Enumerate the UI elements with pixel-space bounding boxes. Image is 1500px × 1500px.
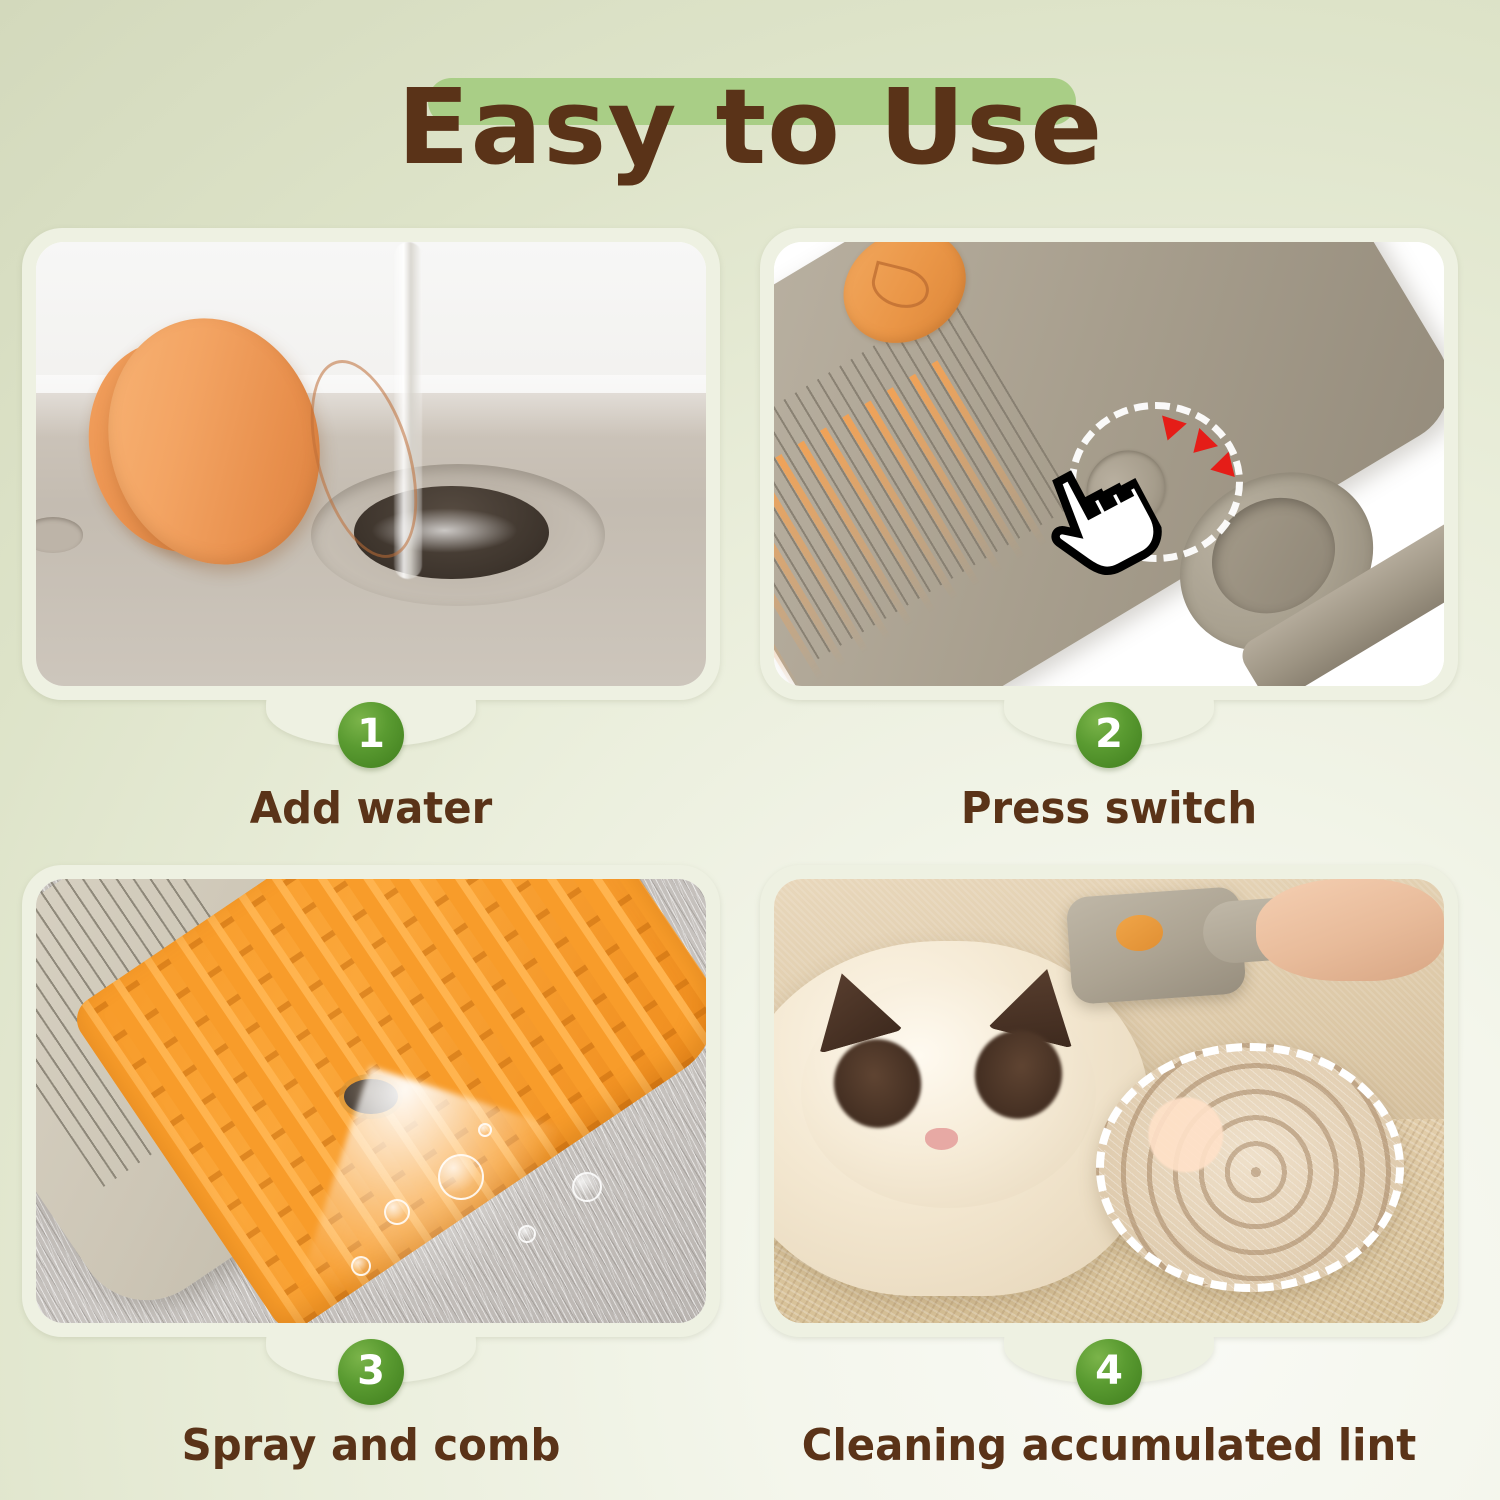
step-card-4[interactable]: 4 Cleaning accumulated lint [760, 865, 1458, 1337]
step-badge-2-number: 2 [1095, 714, 1123, 754]
step-badge-3: 3 [338, 1339, 404, 1405]
step-badge-2: 2 [1076, 702, 1142, 768]
step-caption-1: Add water [39, 783, 702, 834]
infographic-page: Easy to Use [0, 0, 1500, 1500]
step-caption-2: Press switch [777, 783, 1440, 834]
click-arrow-1 [1155, 415, 1187, 444]
step-badge-4-number: 4 [1095, 1351, 1123, 1391]
cat-nose [925, 1128, 959, 1150]
bubble [438, 1154, 484, 1200]
bubble [572, 1172, 602, 1202]
bubble [384, 1199, 410, 1225]
step-image-3 [36, 879, 706, 1323]
step-image-2 [774, 242, 1444, 686]
step-badge-1-number: 1 [357, 714, 385, 754]
human-hand [1256, 879, 1444, 981]
step-image-4 [774, 879, 1444, 1323]
step-card-1[interactable]: 1 Add water [22, 228, 720, 700]
click-arrows [1149, 411, 1296, 509]
step-badge-3-number: 3 [357, 1351, 385, 1391]
step-badge-4: 4 [1076, 1339, 1142, 1405]
step-card-2[interactable]: 2 Press switch [760, 228, 1458, 700]
click-arrow-3 [1207, 451, 1235, 482]
lint-closeup-inset [1096, 1043, 1404, 1292]
step-caption-4: Cleaning accumulated lint [777, 1420, 1440, 1471]
steps-grid: 1 Add water [0, 0, 1500, 1500]
step-badge-1: 1 [338, 702, 404, 768]
step-caption-3: Spray and comb [39, 1420, 702, 1471]
step-card-3[interactable]: 3 Spray and comb [22, 865, 720, 1337]
step-image-1 [36, 242, 706, 686]
